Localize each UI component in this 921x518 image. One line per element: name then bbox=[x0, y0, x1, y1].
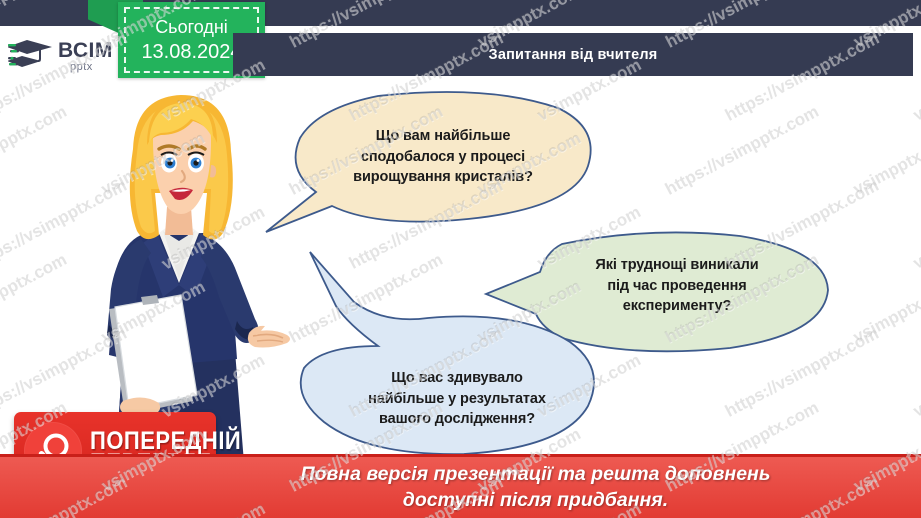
watermark-text: vsimpptx.com bbox=[850, 276, 921, 347]
speech-bubble-1-text: Що вам найбільше сподобалося у процесі в… bbox=[310, 126, 576, 188]
footer-banner: Повна версія презентації та решта доповн… bbox=[0, 454, 921, 518]
watermark-text: https://vsimpptx.com bbox=[0, 250, 70, 348]
slide-canvas: ВСІМ pptx Сьогодні 13.08.2024 Запитання … bbox=[0, 0, 921, 518]
footer-text: Повна версія презентації та решта доповн… bbox=[151, 462, 771, 513]
watermark-text: vsimpptx.com bbox=[850, 128, 921, 199]
watermark-text: vsimpptx.com bbox=[910, 202, 921, 273]
footer-line1: Повна версія презентації та решта доповн… bbox=[301, 462, 771, 488]
date-badge-label: Сьогодні bbox=[155, 17, 228, 38]
date-badge-date: 13.08.2024 bbox=[141, 41, 241, 64]
footer-line2: доступні після придбання. bbox=[301, 488, 771, 514]
header-band: Запитання від вчителя bbox=[233, 33, 913, 76]
logo-text-primary: ВСІМ bbox=[58, 40, 113, 61]
speech-bubble-1: Що вам найбільше сподобалося у процесі в… bbox=[258, 88, 598, 233]
graduation-cap-icon bbox=[8, 35, 54, 75]
watermark-text: vsimpptx.com bbox=[910, 350, 921, 421]
speech-bubble-3: Що вас здивувало найбільше у результатах… bbox=[288, 250, 608, 460]
watermark-text: https://vsimpptx.com bbox=[662, 102, 822, 200]
logo-text-secondary: pptx bbox=[70, 62, 113, 73]
speech-bubble-3-text: Що вас здивувало найбільше у результатах… bbox=[332, 368, 582, 430]
page-title: Запитання від вчителя bbox=[489, 47, 658, 63]
watermark-text: https://vsimpptx.com bbox=[0, 102, 70, 200]
